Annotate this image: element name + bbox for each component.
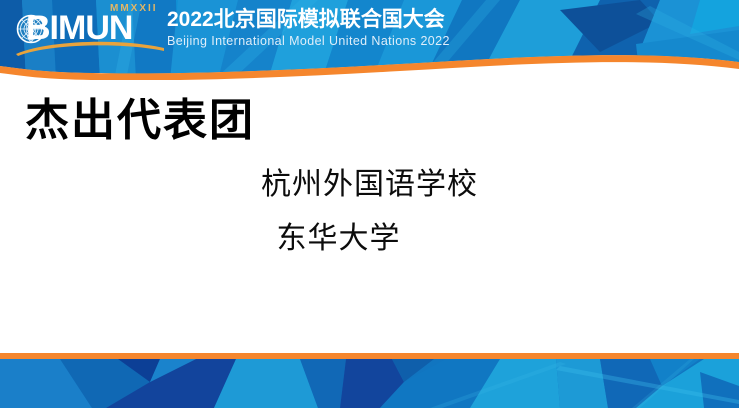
slide-content: 杰出代表团 杭州外国语学校 东华大学 [0,80,739,352]
winner-list: 杭州外国语学校 东华大学 [0,158,739,266]
header-title-block: 2022北京国际模拟联合国大会 Beijing International Mo… [167,8,607,48]
slide-header-banner: BIMUN MMXXII 2022北京国际模拟联合国大会 Beijing Int… [0,0,739,80]
award-category-title: 杰出代表团 [25,98,255,144]
winner-item: 杭州外国语学校 [0,158,739,212]
bimun-logo: BIMUN MMXXII [14,2,164,54]
footer-background-graphic [0,352,739,408]
presentation-slide: BIMUN MMXXII 2022北京国际模拟联合国大会 Beijing Int… [0,0,739,408]
footer-accent-line [0,353,739,359]
logo-roman-year: MMXXII [110,3,158,14]
winner-item: 东华大学 [0,212,739,266]
orange-swoosh-icon [14,38,166,56]
conference-title-en: Beijing International Model United Natio… [167,34,607,48]
slide-footer-banner [0,352,739,408]
conference-title-cn: 2022北京国际模拟联合国大会 [167,8,607,32]
